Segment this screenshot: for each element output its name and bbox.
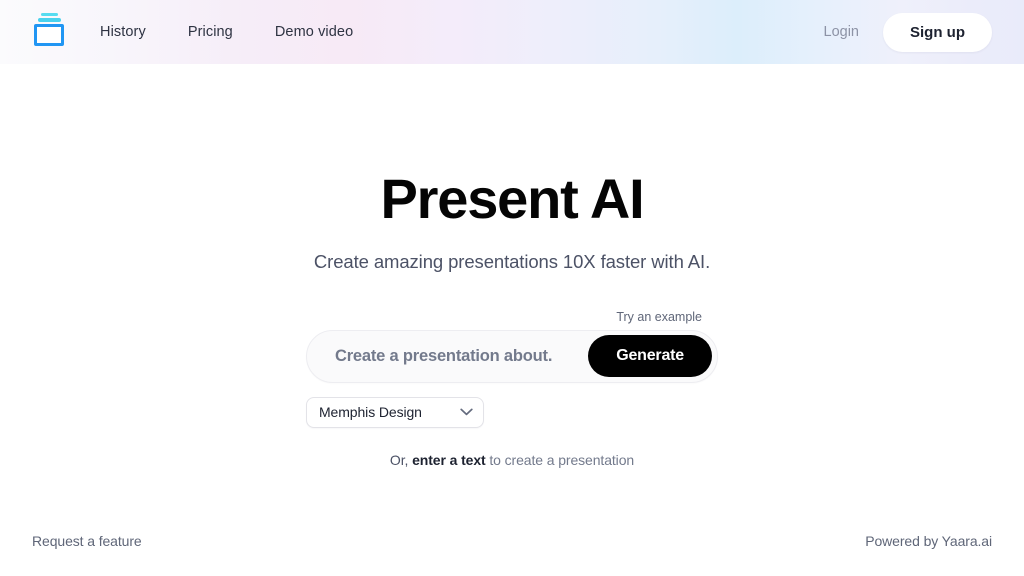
presentation-style-value: Memphis Design — [319, 404, 422, 420]
try-example-row: Try an example — [306, 310, 718, 324]
signup-button[interactable]: Sign up — [883, 13, 992, 52]
site-header: History Pricing Demo video Login Sign up — [0, 0, 1024, 64]
enter-a-text-link[interactable]: enter a text — [412, 452, 486, 468]
header-actions: Login Sign up — [824, 13, 992, 52]
enter-text-line: Or, enter a text to create a presentatio… — [306, 452, 718, 468]
nav-item-pricing[interactable]: Pricing — [188, 18, 233, 46]
prompt-input-container[interactable]: Generate — [306, 330, 718, 383]
logo-bar-top — [41, 13, 58, 16]
or-suffix-text: to create a presentation — [486, 452, 635, 468]
generate-button[interactable]: Generate — [588, 335, 712, 377]
page-subtitle: Create amazing presentations 10X faster … — [314, 251, 710, 273]
page-title: Present AI — [381, 170, 644, 229]
hero-section: Present AI Create amazing presentations … — [0, 64, 1024, 520]
or-prefix-text: Or, — [390, 452, 412, 468]
nav-item-history[interactable]: History — [100, 18, 146, 46]
app-page: History Pricing Demo video Login Sign up… — [0, 0, 1024, 576]
login-link[interactable]: Login — [824, 24, 859, 40]
logo-slide-frame — [34, 24, 64, 46]
style-select-row: Memphis Design — [306, 397, 718, 428]
main-nav: History Pricing Demo video — [100, 18, 353, 46]
site-footer: Request a feature Powered by Yaara.ai — [0, 520, 1024, 576]
nav-item-demo-video[interactable]: Demo video — [275, 18, 353, 46]
try-an-example-link[interactable]: Try an example — [616, 310, 702, 324]
stacked-slides-logo-icon[interactable] — [32, 13, 66, 51]
presentation-style-select[interactable]: Memphis Design — [306, 397, 484, 428]
prompt-block: Try an example Generate Memphis Design — [306, 310, 718, 468]
prompt-input[interactable] — [335, 347, 588, 366]
powered-by-label: Powered by Yaara.ai — [865, 533, 992, 549]
chevron-down-icon — [460, 403, 473, 421]
logo-bar-mid — [38, 18, 61, 22]
request-a-feature-link[interactable]: Request a feature — [32, 533, 142, 549]
